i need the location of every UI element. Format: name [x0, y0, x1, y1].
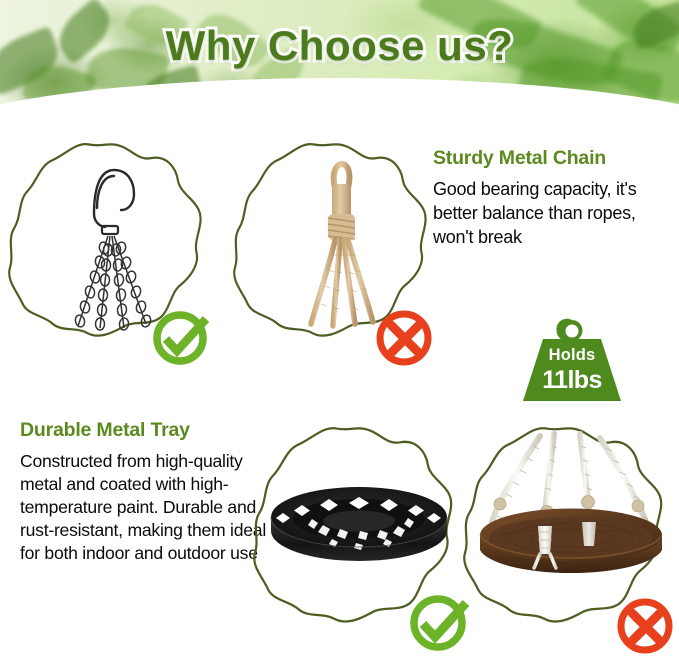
section-body-chain: Good bearing capacity, it's better balan…	[433, 178, 675, 249]
header-banner: Why Choose us?	[0, 0, 679, 118]
section-durable-metal-tray: Durable Metal Tray Constructed from high…	[20, 420, 272, 565]
verdict-check-metal-chain	[150, 306, 212, 368]
section-body-tray: Constructed from high-quality metal and …	[20, 450, 272, 564]
section-heading-tray: Durable Metal Tray	[20, 420, 272, 441]
weight-capacity-badge: Holds 11lbs	[517, 316, 627, 404]
section-heading-chain: Sturdy Metal Chain	[433, 148, 675, 169]
page-title: Why Choose us?	[0, 22, 679, 70]
product-image-metal-tray	[268, 485, 450, 571]
section-sturdy-metal-chain: Sturdy Metal Chain Good bearing capacity…	[433, 148, 675, 250]
weight-badge-value: 11lbs	[517, 366, 627, 395]
product-image-macrame-wood-tray	[470, 430, 670, 585]
weight-badge-holds-label: Holds	[517, 346, 627, 365]
verdict-cross-rope-hanger	[373, 304, 437, 368]
verdict-cross-macrame-tray	[614, 592, 678, 656]
